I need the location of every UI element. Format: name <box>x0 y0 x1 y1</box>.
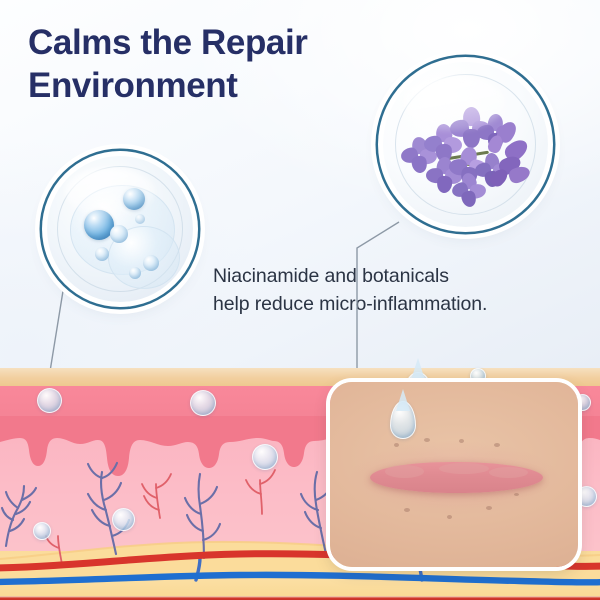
page-title-line-2: Environment <box>28 65 388 108</box>
body-caption-line-2: help reduce micro-inflammation. <box>213 291 565 319</box>
molecule-bubble <box>95 247 109 261</box>
infographic-canvas: Calms the Repair Environment Niacinamide… <box>0 0 600 600</box>
body-caption: Niacinamide and botanicals help reduce m… <box>213 263 565 318</box>
skin-droplet <box>190 390 216 416</box>
skin-droplet <box>576 486 597 507</box>
skin-pore <box>494 443 500 447</box>
diagram-base-line <box>0 596 600 600</box>
water-droplet-on-photo <box>390 401 416 439</box>
dish-gloss-highlight <box>403 75 505 131</box>
botanical-flower-image <box>383 62 548 227</box>
skin-pore <box>424 438 430 442</box>
lesion-photo-inset[interactable] <box>330 382 578 567</box>
skin-droplet-left <box>37 388 62 413</box>
skin-droplet <box>33 522 51 540</box>
skin-pore <box>447 515 452 519</box>
molecule-bubble <box>110 225 128 243</box>
skin-pore <box>514 493 519 496</box>
gel-molecule-inset[interactable] <box>47 156 193 302</box>
botanical-flower-inset[interactable] <box>383 62 548 227</box>
dish-gloss-highlight <box>65 168 156 218</box>
body-caption-line-1: Niacinamide and botanicals <box>213 263 565 291</box>
page-title: Calms the Repair Environment <box>28 22 388 107</box>
page-title-line-1: Calms the Repair <box>28 22 388 65</box>
skin-droplet <box>252 444 278 470</box>
molecule-bubble <box>129 267 141 279</box>
skin-droplet <box>112 508 135 531</box>
gel-molecule-image <box>47 156 193 302</box>
vein-path <box>0 575 600 583</box>
molecule-bubble <box>135 214 145 224</box>
